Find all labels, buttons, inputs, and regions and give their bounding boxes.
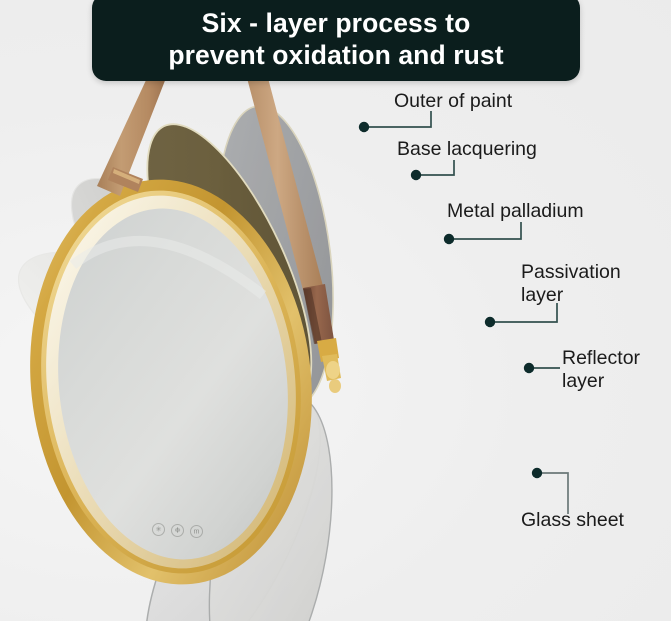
callout-label-metal-palladium: Metal palladium — [447, 200, 584, 223]
callout-label-reflector-layer: Reflector layer — [562, 347, 640, 392]
leader-reflector-layer — [524, 363, 560, 373]
leader-base-lacquering — [411, 160, 454, 180]
infographic-canvas: ✳ ❉ m — [0, 0, 671, 621]
leader-passivation-layer — [485, 303, 557, 327]
callout-label-outer-of-paint: Outer of paint — [394, 90, 512, 113]
callout-label-glass-sheet: Glass sheet — [521, 509, 624, 532]
callout-layer: Outer of paint Base lacquering Metal pal… — [0, 0, 671, 621]
callout-label-base-lacquering: Base lacquering — [397, 138, 537, 161]
leader-outer-of-paint — [359, 111, 431, 132]
leader-glass-sheet — [532, 468, 568, 514]
callout-label-passivation-layer: Passivation layer — [521, 261, 621, 306]
leader-metal-palladium — [444, 222, 521, 244]
